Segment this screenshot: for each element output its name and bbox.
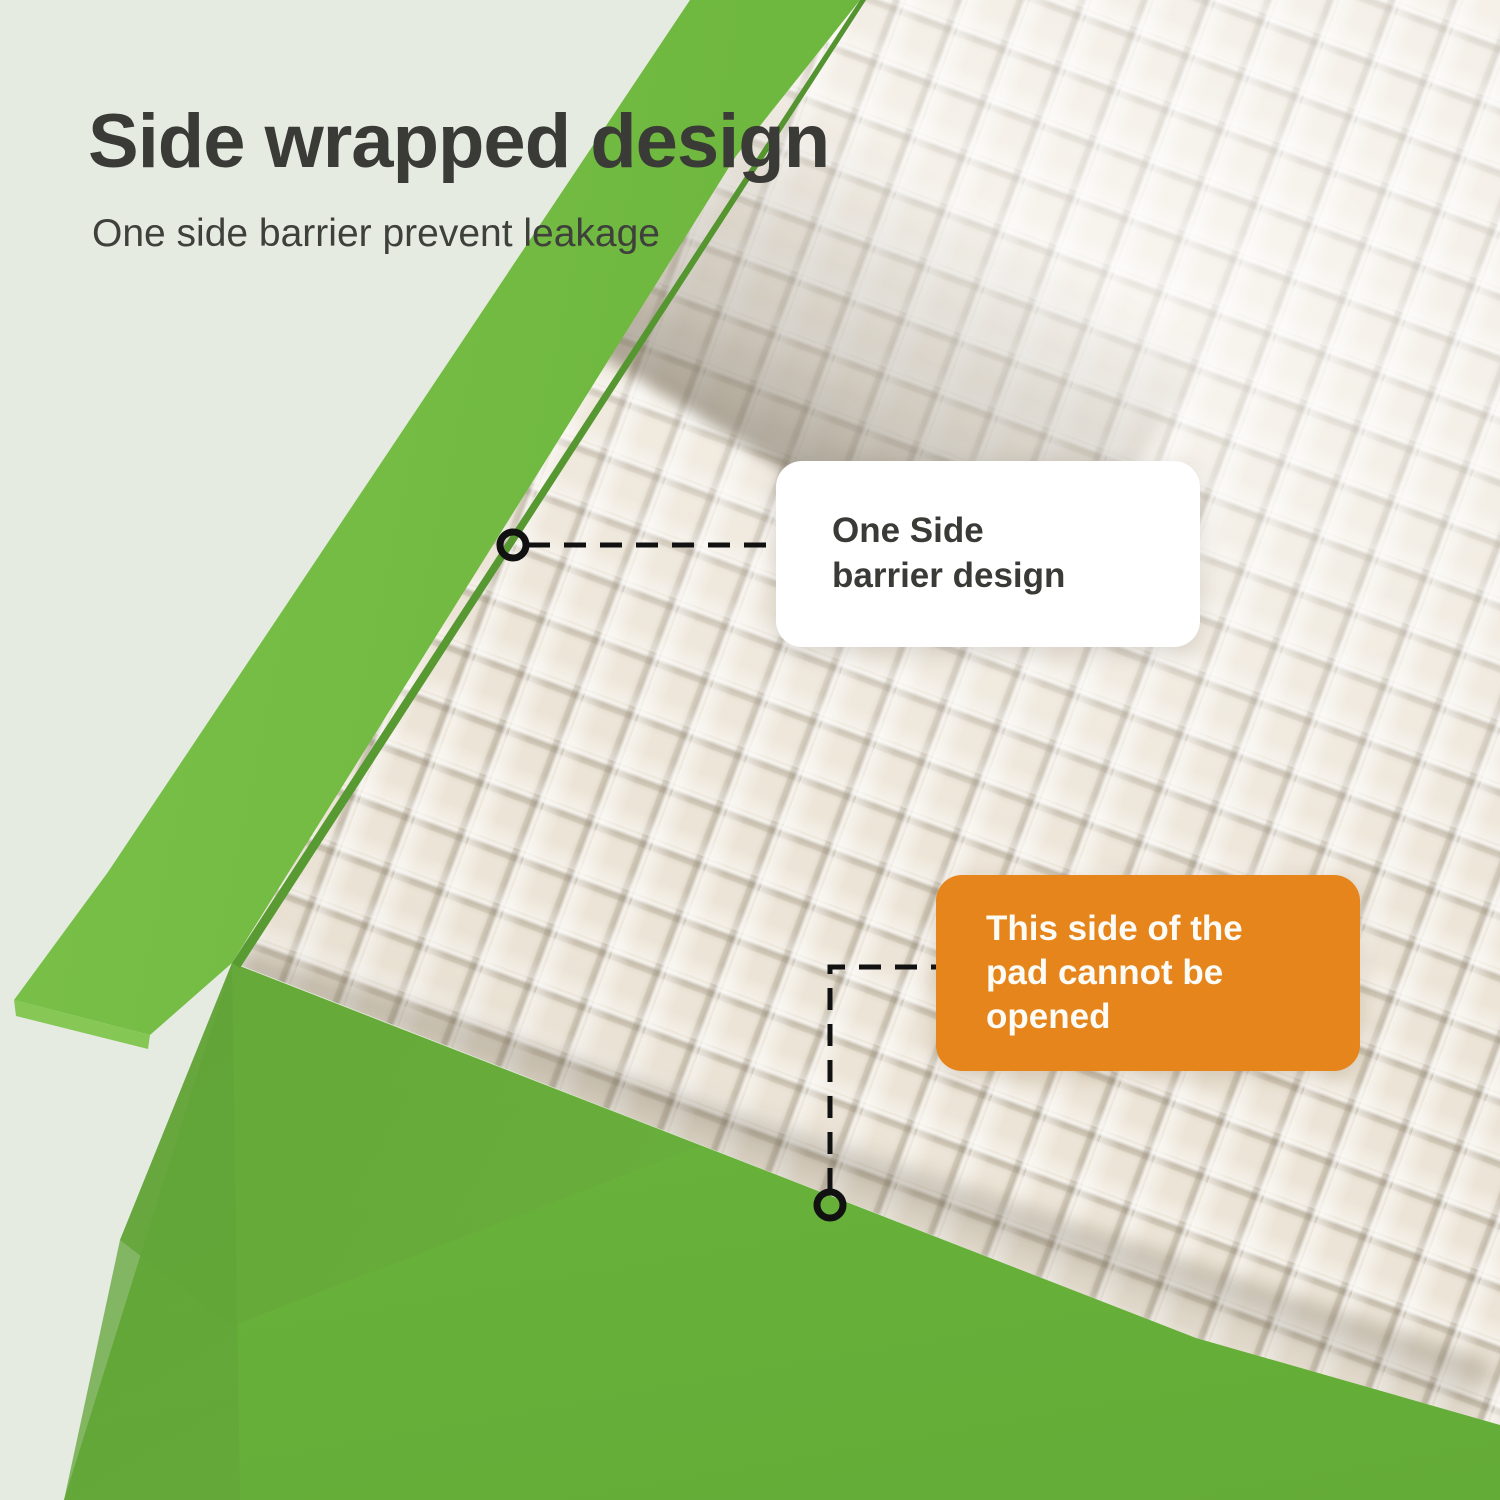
- callout-line-1: This side of the: [986, 907, 1310, 951]
- callout-line-2: barrier design: [832, 554, 1144, 599]
- infographic-canvas: Side wrapped design One side barrier pre…: [0, 0, 1500, 1500]
- page-title: Side wrapped design: [88, 104, 829, 180]
- callout-line-3: opened: [986, 995, 1310, 1039]
- callout-line-1: One Side: [832, 509, 1144, 554]
- callout-cannot-be-opened[interactable]: This side of the pad cannot be opened: [936, 875, 1360, 1071]
- page-subtitle: One side barrier prevent leakage: [92, 214, 660, 253]
- callout-one-side-barrier[interactable]: One Side barrier design: [776, 461, 1200, 647]
- callout-line-2: pad cannot be: [986, 951, 1310, 995]
